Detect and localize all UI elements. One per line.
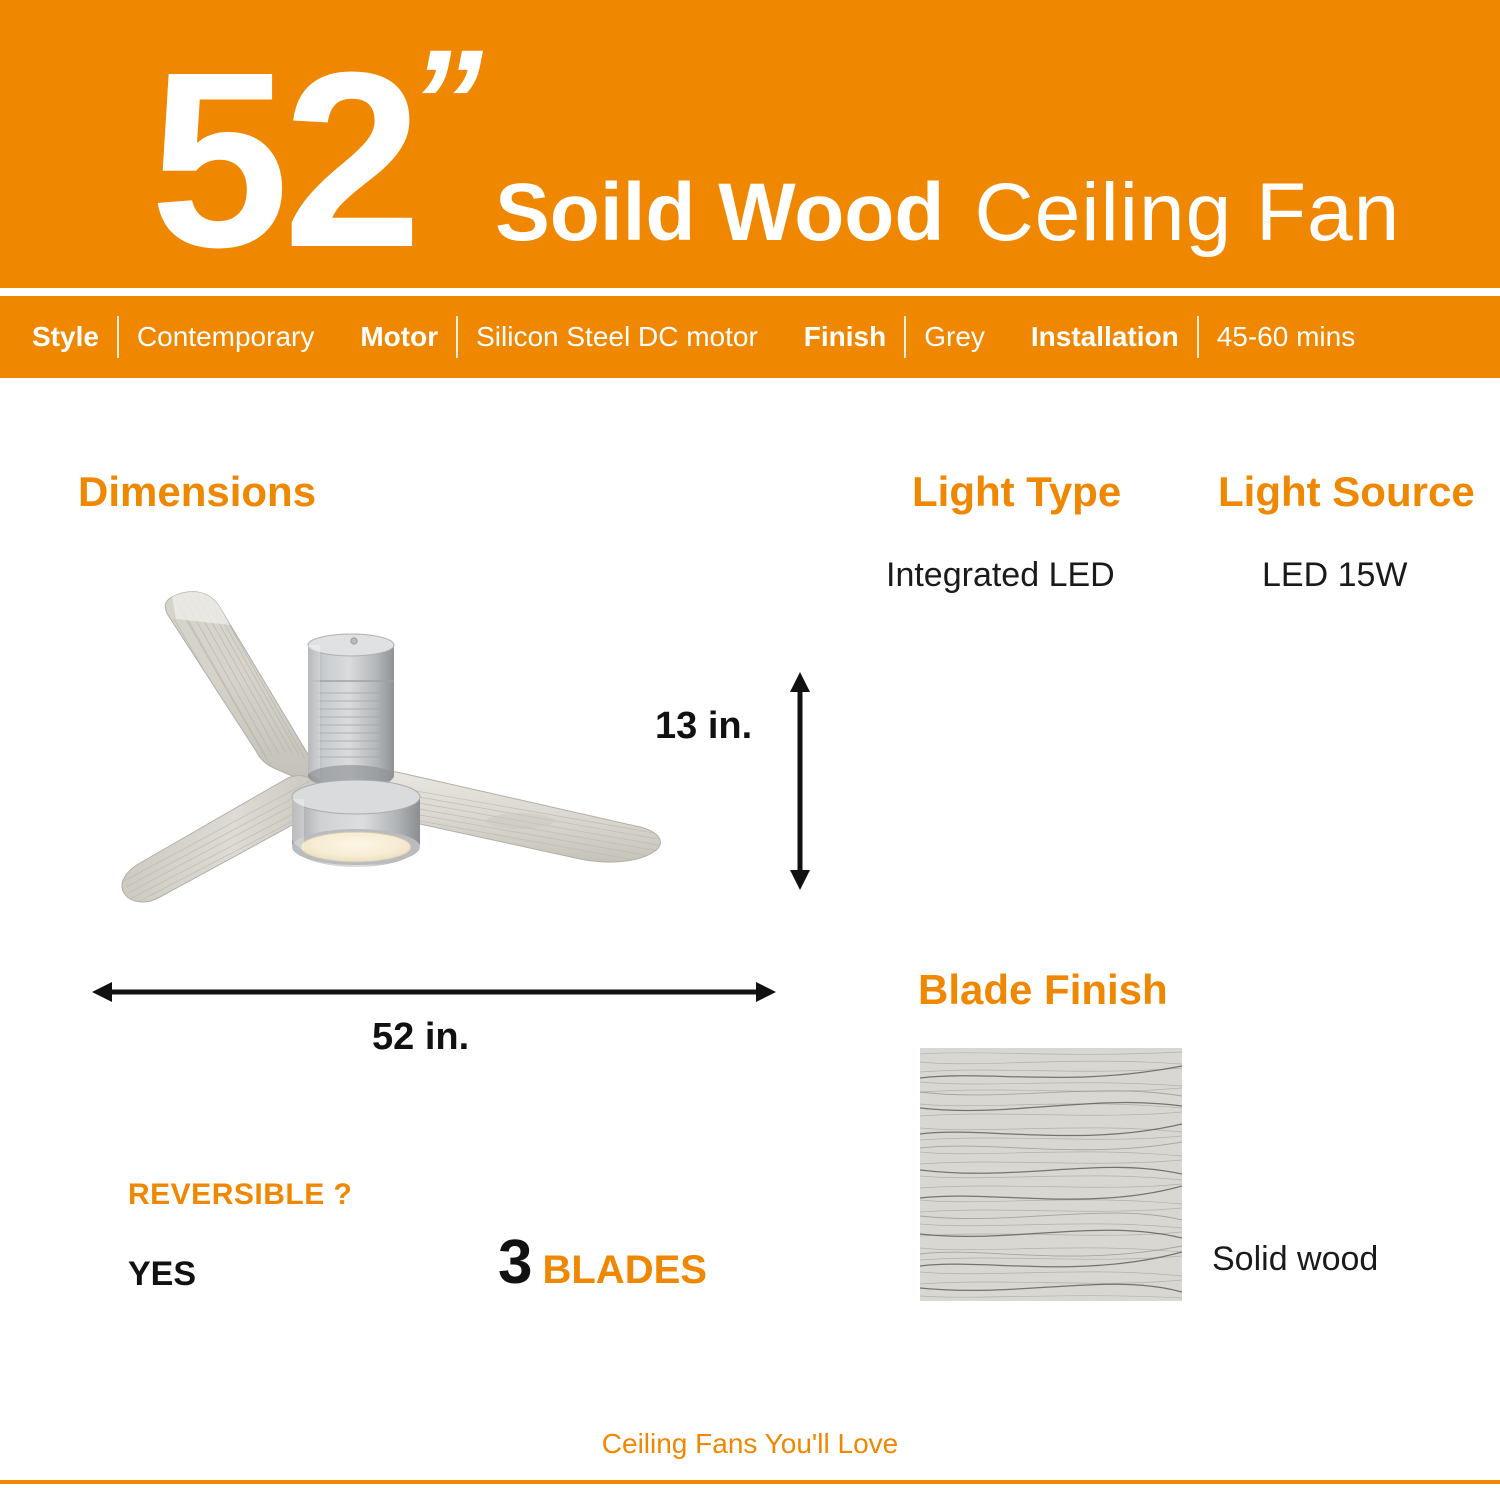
spec-value-style: Contemporary xyxy=(137,321,314,353)
spec-key-finish: Finish xyxy=(804,321,886,353)
product-title-light: Ceiling Fan xyxy=(974,166,1400,260)
blade-finish-material-label: Solid wood xyxy=(1212,1240,1378,1279)
spec-divider xyxy=(1197,316,1199,358)
spec-bar: Style Contemporary Motor Silicon Steel D… xyxy=(0,296,1500,378)
blade-finish-swatch xyxy=(920,1048,1182,1301)
spec-key-motor: Motor xyxy=(360,321,438,353)
spec-item-style: Style Contemporary xyxy=(32,313,314,361)
light-type-value: Integrated LED xyxy=(886,556,1115,595)
reversible-value: YES xyxy=(128,1255,196,1294)
spec-item-finish: Finish Grey xyxy=(804,313,985,361)
height-dimension-label: 13 in. xyxy=(655,705,752,748)
header-banner: 52 ” Soild Wood Ceiling Fan xyxy=(0,0,1500,288)
spec-value-finish: Grey xyxy=(924,321,985,353)
blade-count-number: 3 xyxy=(498,1232,532,1294)
spec-key-style: Style xyxy=(32,321,99,353)
product-title-bold: Soild Wood xyxy=(495,166,944,260)
blade-finish-heading: Blade Finish xyxy=(918,966,1168,1014)
fan-size-number: 52 xyxy=(150,57,416,262)
blade-count-group: 3 BLADES xyxy=(498,1232,707,1294)
spec-value-installation: 45-60 mins xyxy=(1217,321,1356,353)
fan-blade-upper-left xyxy=(165,592,314,780)
height-dimension-arrow xyxy=(778,668,822,894)
fan-led-light-fixture xyxy=(292,780,420,867)
footer-tagline: Ceiling Fans You'll Love xyxy=(0,1428,1500,1460)
dimensions-heading: Dimensions xyxy=(78,468,316,516)
spec-item-installation: Installation 45-60 mins xyxy=(1031,313,1355,361)
header-title-row: 52 ” Soild Wood Ceiling Fan xyxy=(0,57,1500,266)
spec-divider xyxy=(456,316,458,358)
width-dimension-label: 52 in. xyxy=(372,1016,469,1059)
light-type-heading: Light Type xyxy=(912,468,1121,516)
spec-value-motor: Silicon Steel DC motor xyxy=(476,321,758,353)
blade-count-label: BLADES xyxy=(542,1250,706,1290)
light-source-value: LED 15W xyxy=(1262,556,1408,595)
spec-key-installation: Installation xyxy=(1031,321,1179,353)
light-source-heading: Light Source xyxy=(1218,468,1475,516)
spec-divider xyxy=(117,316,119,358)
fan-motor-housing xyxy=(308,634,394,789)
width-dimension-arrow xyxy=(88,972,780,1012)
reversible-heading: REVERSIBLE ? xyxy=(128,1178,352,1212)
spec-item-motor: Motor Silicon Steel DC motor xyxy=(360,313,757,361)
inches-mark-icon: ” xyxy=(408,41,473,164)
footer-rule xyxy=(0,1480,1500,1484)
spec-divider xyxy=(904,316,906,358)
